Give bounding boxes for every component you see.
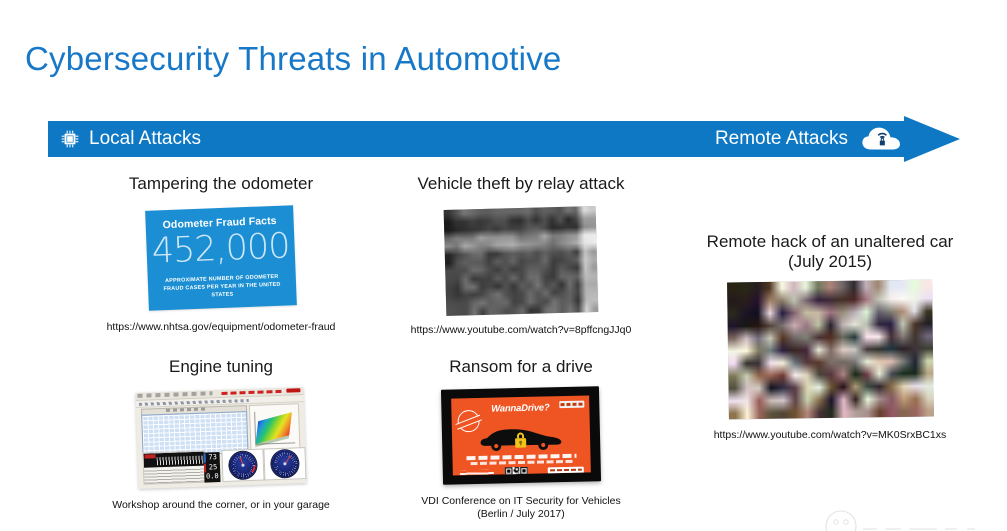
odometer-fraud-card: Odometer Fraud Facts 452,000 APPROXIMATE… — [145, 205, 297, 311]
engine-tuning-software-screenshot: 73 25 0.0 — [135, 387, 306, 489]
language-select-label — [560, 402, 583, 406]
banner-left-label: Local Attacks — [89, 128, 201, 150]
block-odometer-title: Tampering the odometer — [66, 174, 376, 194]
block-engine-tuning-caption: Workshop around the corner, or in your g… — [66, 499, 376, 512]
ransom-payment-instructions — [460, 469, 494, 475]
block-odometer: Tampering the odometer Odometer Fraud Fa… — [66, 174, 376, 334]
ransomware-caption-line-2: (Berlin / July 2017) — [381, 508, 661, 521]
odometer-card-number: 452,000 — [146, 229, 295, 270]
tuning-gauge-left — [221, 448, 264, 481]
slide: Cybersecurity Threats in Automotive — [0, 0, 1007, 531]
page-title: Cybersecurity Threats in Automotive — [25, 40, 561, 78]
odometer-card-subtext: APPROXIMATE NUMBER OF ODOMETER FRAUD CAS… — [158, 273, 287, 301]
scale-strip — [144, 451, 204, 467]
wannadrive-screen: WannaDrive? — [451, 395, 591, 475]
block-ransomware-caption: VDI Conference on IT Security for Vehicl… — [381, 495, 661, 521]
tuning-menubar — [137, 391, 212, 398]
check-payment-button[interactable] — [548, 466, 584, 475]
ransomware-monitor: WannaDrive? — [441, 386, 601, 485]
block-relay-attack-title: Vehicle theft by relay attack — [381, 174, 661, 194]
tuning-digital-readouts: 73 25 0.0 — [203, 452, 220, 483]
bottom-watermark — [805, 500, 985, 531]
block-remote-hack-title: Remote hack of an unaltered car (July 20… — [675, 232, 985, 271]
check-payment-label — [550, 468, 582, 471]
block-ransomware: Ransom for a drive WannaDrive? — [381, 357, 661, 521]
microchip-icon — [60, 129, 80, 149]
arrow-head — [904, 116, 960, 162]
ransom-message-line-2 — [471, 459, 573, 464]
ransomware-caption-line-1: VDI Conference on IT Security for Vehicl… — [381, 495, 661, 508]
readout-value-2: 25 — [204, 462, 220, 472]
block-ransomware-title: Ransom for a drive — [381, 357, 661, 377]
scale-ticks — [157, 455, 203, 465]
remote-hack-title-line-2: (July 2015) — [675, 252, 985, 272]
block-remote-hack-caption: https://www.youtube.com/watch?v=MK0SrxBC… — [675, 429, 985, 442]
remote-hack-title-line-1: Remote hack of an unaltered car — [675, 232, 985, 252]
block-engine-tuning-title: Engine tuning — [66, 357, 376, 377]
cloud-lock-wifi-icon — [860, 125, 905, 153]
tuning-gauge-right — [263, 447, 306, 480]
banner-right-label: Remote Attacks — [715, 128, 848, 150]
block-engine-tuning: Engine tuning — [66, 357, 376, 512]
language-select-button[interactable] — [559, 400, 584, 408]
gauge-face — [229, 451, 257, 479]
readout-value-3: 0.0 — [204, 472, 220, 482]
bitcoin-qr-code — [505, 466, 529, 475]
attack-spectrum-banner: Local Attacks Remote Attacks — [48, 121, 960, 157]
block-relay-attack-caption: https://www.youtube.com/watch?v=8pffcngJ… — [381, 324, 661, 337]
tuning-record-button — [286, 388, 300, 392]
car-with-padlock-icon — [479, 425, 564, 453]
scale-red-marker — [145, 454, 156, 458]
tuning-3d-surface-panel — [249, 403, 301, 453]
block-odometer-caption: https://www.nhtsa.gov/equipment/odometer… — [66, 321, 376, 334]
block-relay-attack: Vehicle theft by relay attack https://ww… — [381, 174, 661, 337]
block-remote-hack: Remote hack of an unaltered car (July 20… — [675, 232, 985, 442]
readout-value-1: 73 — [204, 453, 220, 463]
gauge-hub — [241, 463, 244, 466]
gauge-hub — [283, 462, 286, 465]
tuning-warning-text — [221, 389, 281, 394]
gauge-face — [271, 449, 299, 477]
relay-attack-photo — [444, 206, 599, 316]
scale-legend-text — [144, 466, 204, 483]
remote-hack-photo — [727, 280, 934, 420]
surface-plot — [255, 412, 291, 444]
tuning-scale-panel — [142, 450, 205, 484]
ransom-message-line-1 — [466, 453, 576, 459]
